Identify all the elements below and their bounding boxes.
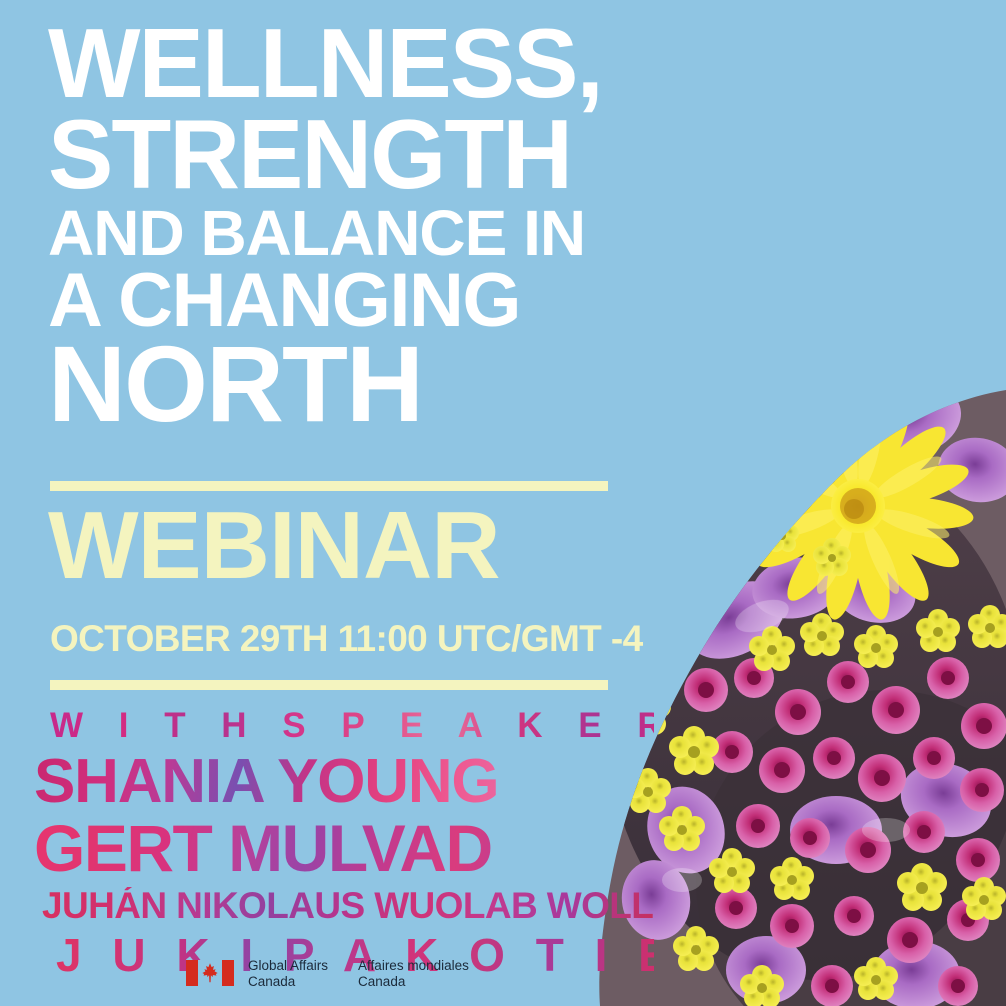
canada-flag-icon	[186, 960, 234, 986]
logo-en-line2: Canada	[248, 974, 328, 990]
headline-line-5: NORTH	[48, 334, 648, 434]
page-title: WELLNESS, STRENGTH AND BALANCE IN A CHAN…	[48, 18, 648, 435]
divider-above-webinar	[50, 481, 608, 491]
logo-en-line1: Global Affairs	[248, 958, 328, 974]
headline-line-3: AND BALANCE IN	[48, 204, 648, 264]
speaker-name: SHANIA YOUNG	[34, 751, 654, 813]
headline-line-1: WELLNESS,	[48, 18, 648, 109]
logo-fr-line2: Canada	[358, 974, 469, 990]
event-type-label: WEBINAR	[48, 498, 500, 594]
logo-wordmark: Global Affairs Canada Affaires mondiales…	[248, 958, 469, 991]
webinar-poster: WELLNESS, STRENGTH AND BALANCE IN A CHAN…	[0, 0, 1006, 1006]
speaker-name: JUHÁN NIKOLAUS WUOLAB WOLLBERG	[34, 887, 654, 924]
speaker-name: GERT MULVAD	[34, 815, 654, 881]
event-date-time: OCTOBER 29TH 11:00 UTC/GMT -4	[50, 620, 643, 657]
logo-text-french: Affaires mondiales Canada	[358, 958, 469, 991]
headline-line-2: STRENGTH	[48, 109, 648, 200]
logo-text-english: Global Affairs Canada	[248, 958, 328, 991]
speakers-label: W I T H S P E A K E R S :	[34, 708, 654, 743]
global-affairs-canada-logo: Global Affairs Canada Affaires mondiales…	[186, 958, 469, 991]
logo-fr-line1: Affaires mondiales	[358, 958, 469, 974]
speakers-section: W I T H S P E A K E R S : SHANIA YOUNG G…	[34, 708, 654, 978]
divider-below-date	[50, 680, 608, 690]
